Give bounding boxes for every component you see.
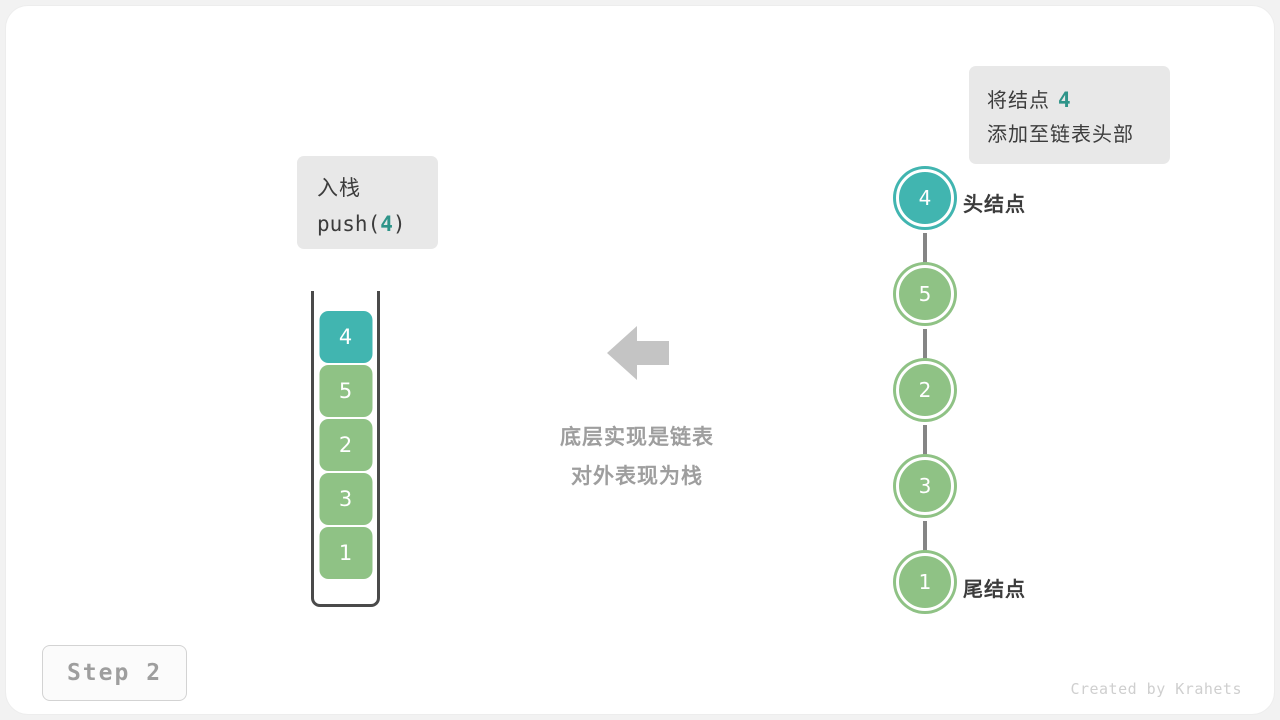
list-node-value: 5 (919, 282, 932, 306)
stack-container: 4 5 2 3 1 (311, 291, 380, 607)
head-note-line2: 添加至链表头部 (987, 119, 1170, 150)
push-operation-note: 入栈 push(4) (297, 156, 438, 249)
stack-cell-value: 2 (339, 433, 352, 457)
list-node: 1 (896, 553, 954, 611)
stack-cell: 1 (319, 527, 372, 579)
list-node: 4 (896, 169, 954, 227)
stack-cell: 4 (319, 311, 372, 363)
list-node: 3 (896, 457, 954, 515)
list-node: 5 (896, 265, 954, 323)
list-edge (923, 233, 927, 269)
list-node-value: 2 (919, 378, 932, 402)
middle-caption-line2: 对外表现为栈 (506, 457, 768, 496)
head-note-line1-text: 将结点 (987, 88, 1050, 112)
stack-cell: 3 (319, 473, 372, 525)
push-note-code: push(4) (317, 208, 438, 241)
push-note-title: 入栈 (317, 172, 438, 205)
push-note-code-value: 4 (380, 212, 393, 236)
step-badge: Step 2 (42, 645, 187, 701)
figure-canvas: 入栈 push(4) 将结点4 添加至链表头部 4 5 2 3 1 底 (0, 0, 1280, 720)
head-insertion-note: 将结点4 添加至链表头部 (969, 66, 1170, 164)
list-edge (923, 329, 927, 365)
list-node: 2 (896, 361, 954, 419)
push-note-code-suffix: ) (393, 212, 406, 236)
middle-caption: 底层实现是链表 对外表现为栈 (506, 418, 768, 496)
head-note-line1-value: 4 (1050, 88, 1072, 112)
linked-list-diagram: 头结点 尾结点 4 5 2 3 1 (786, 156, 1026, 626)
credit-text: Created by Krahets (1070, 680, 1242, 698)
stack-cell-value: 1 (339, 541, 352, 565)
stack-cell-value: 3 (339, 487, 352, 511)
list-node-value: 4 (919, 186, 932, 210)
middle-caption-line1: 底层实现是链表 (506, 418, 768, 457)
list-node-value: 1 (919, 570, 932, 594)
stack-cell-value: 4 (339, 325, 352, 349)
figure-frame: 入栈 push(4) 将结点4 添加至链表头部 4 5 2 3 1 底 (6, 6, 1274, 714)
stack-cell: 2 (319, 419, 372, 471)
head-note-line1: 将结点4 (987, 84, 1170, 117)
list-node-value: 3 (919, 474, 932, 498)
arrow-left-icon (607, 324, 669, 382)
stack-cell: 5 (319, 365, 372, 417)
push-note-code-prefix: push( (317, 212, 380, 236)
stack-cell-value: 5 (339, 379, 352, 403)
stack-cell-list: 4 5 2 3 1 (319, 311, 372, 579)
